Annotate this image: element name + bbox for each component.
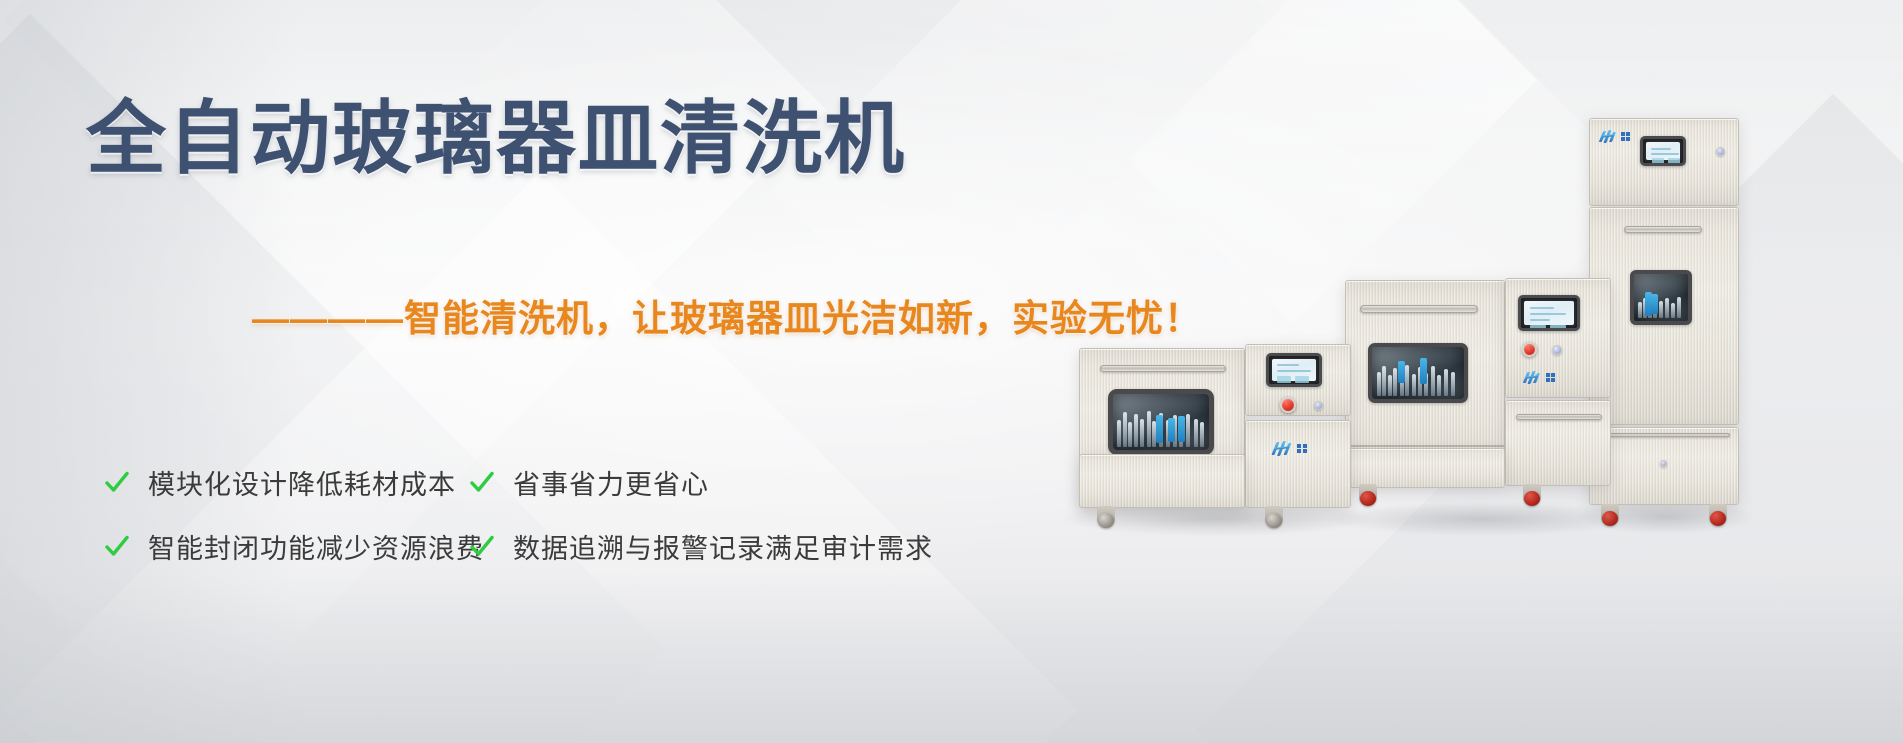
feature-label: 省事省力更省心: [513, 463, 709, 502]
glassware-load: [1634, 274, 1688, 321]
chamber-viewing-window: [1108, 389, 1214, 455]
cabinet-upper-section: [1589, 118, 1739, 206]
hmi-screen[interactable]: [1646, 142, 1680, 160]
emergency-stop-button[interactable]: [1280, 397, 1296, 413]
base-skirt: [1345, 448, 1505, 488]
hmi-screen[interactable]: [1524, 301, 1574, 325]
product-image-group: [1073, 0, 1903, 743]
product-shadow: [1331, 502, 1631, 536]
service-drawer[interactable]: [1505, 400, 1611, 486]
feature-item-4: 数据追溯与报警记录满足审计需求: [469, 527, 933, 566]
check-icon: [469, 469, 495, 495]
check-icon: [104, 533, 130, 559]
glassware-load: [1372, 347, 1464, 399]
product-tall-cabinet-glassware-washer: [1589, 118, 1739, 520]
brand-logo: [1525, 371, 1555, 384]
feature-label: 模块化设计降低耗材成本: [148, 463, 456, 502]
emergency-stop-button[interactable]: [1522, 342, 1537, 357]
control-panel: [1505, 278, 1611, 398]
logo-mark-icon: [1525, 371, 1543, 384]
brand-logo: [1274, 441, 1307, 456]
hmi-screen[interactable]: [1272, 359, 1316, 381]
base-compartment: [1589, 427, 1739, 505]
product-benchtop-glassware-washer: [1345, 278, 1611, 520]
caster-wheel: [1709, 504, 1727, 526]
chamber-viewing-window: [1368, 343, 1468, 403]
logo-mark-icon: [1274, 441, 1294, 456]
control-panel: [1245, 344, 1351, 416]
indicator-button[interactable]: [1716, 147, 1725, 156]
feature-item-1: 模块化设计降低耗材成本: [104, 463, 469, 502]
chamber-door[interactable]: [1345, 280, 1505, 476]
feature-label: 数据追溯与报警记录满足审计需求: [513, 527, 933, 566]
feature-label: 智能封闭功能减少资源浪费: [148, 527, 484, 566]
door-handle[interactable]: [1624, 226, 1702, 233]
check-icon: [469, 533, 495, 559]
drawer-handle[interactable]: [1516, 414, 1602, 420]
base-skirt: [1079, 454, 1245, 508]
caster-wheel: [1523, 484, 1541, 506]
front-panel: [1245, 420, 1351, 508]
door-handle[interactable]: [1360, 305, 1478, 313]
brushed-steel-texture: [1346, 449, 1504, 487]
page-subtitle: ————智能清洗机，让玻璃器皿光洁如新，实验无忧！: [252, 288, 1202, 342]
touchscreen-hmi[interactable]: [1266, 353, 1322, 387]
caster-wheel: [1359, 484, 1377, 506]
logo-grid-icon: [1621, 132, 1630, 141]
indicator-button[interactable]: [1552, 345, 1562, 355]
indicator-button[interactable]: [1314, 401, 1323, 410]
brand-logo: [1601, 130, 1630, 143]
logo-grid-icon: [1546, 373, 1555, 382]
caster-wheel: [1097, 506, 1115, 528]
page-title: 全自动玻璃器皿清洗机: [86, 96, 906, 182]
logo-grid-icon: [1297, 444, 1307, 454]
touchscreen-hmi[interactable]: [1640, 136, 1686, 166]
logo-mark-icon: [1601, 130, 1618, 143]
brushed-steel-texture: [1080, 455, 1244, 507]
caster-wheel: [1265, 506, 1283, 528]
brushed-steel-texture: [1246, 421, 1350, 507]
check-icon: [104, 469, 130, 495]
feature-list: 模块化设计降低耗材成本 省事省力更省心 智能封闭功能减少资源浪费 数据追溯与报警…: [104, 450, 933, 578]
glassware-load: [1113, 394, 1209, 450]
chamber-viewing-window: [1630, 270, 1692, 325]
feature-item-3: 智能封闭功能减少资源浪费: [104, 527, 469, 566]
panel-seam: [1346, 445, 1504, 447]
panel-seam: [1600, 433, 1730, 437]
product-banner: 全自动玻璃器皿清洗机 ————智能清洗机，让玻璃器皿光洁如新，实验无忧！ 模块化…: [0, 0, 1903, 743]
indicator-button[interactable]: [1660, 460, 1667, 467]
chamber-door[interactable]: [1589, 207, 1739, 425]
product-undercounter-glassware-washer: [1079, 338, 1351, 520]
touchscreen-hmi[interactable]: [1518, 295, 1580, 331]
feature-item-2: 省事省力更省心: [469, 463, 933, 502]
door-handle[interactable]: [1100, 365, 1226, 372]
